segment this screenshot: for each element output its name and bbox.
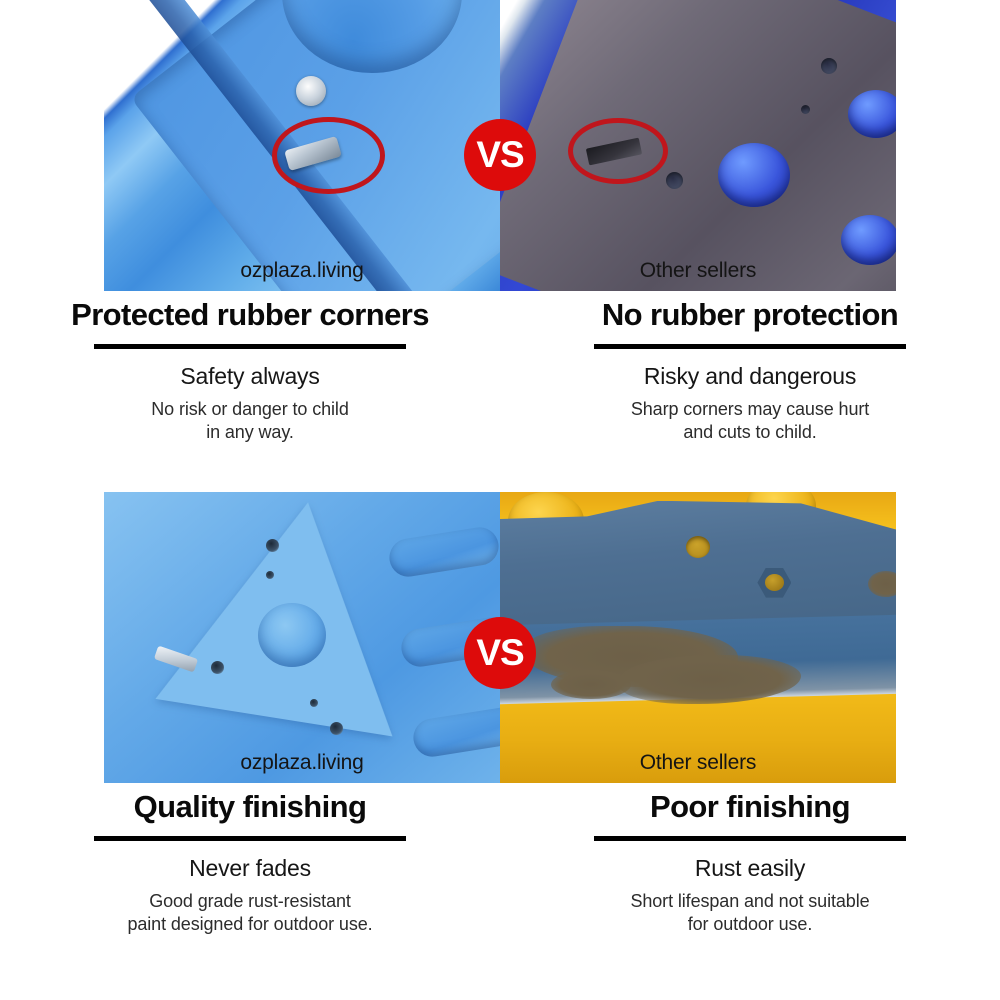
text-col-ours-rubber-corners: Protected rubber corners Safety always N… (0, 299, 500, 444)
photo-caption-ours: ozplaza.living (104, 259, 500, 283)
photo-caption-theirs: Other sellers (500, 751, 896, 775)
body-line-2: paint designed for outdoor use. (0, 913, 500, 936)
plate-hole (686, 536, 710, 558)
brace-bolt-hole (266, 571, 274, 579)
brace-bolt-hole (310, 699, 318, 707)
brace-circular-recess (258, 603, 326, 667)
subhead-ours: Safety always (0, 363, 500, 390)
highlight-ellipse-icon (272, 117, 385, 194)
body-line-2: for outdoor use. (500, 913, 1000, 936)
text-row-top: Protected rubber corners Safety always N… (0, 299, 1000, 444)
divider-rule (94, 344, 406, 349)
bracket-hole (666, 172, 683, 189)
screw-head-icon (296, 76, 326, 106)
vs-badge-top: VS (464, 119, 536, 191)
table-dimple (841, 215, 896, 265)
photo-caption-ours: ozplaza.living (104, 751, 500, 775)
text-col-theirs-finishing: Poor finishing Rust easily Short lifespa… (500, 791, 1000, 936)
subhead-theirs: Rust easily (500, 855, 1000, 882)
photo-theirs-rusted-finish: Other sellers (500, 492, 896, 783)
text-col-ours-finishing: Quality finishing Never fades Good grade… (0, 791, 500, 936)
brace-bolt-hole (330, 722, 343, 735)
subhead-ours: Never fades (0, 855, 500, 882)
brace-bolt-hole (211, 661, 224, 674)
highlight-ellipse-icon (568, 118, 668, 184)
metal-bracket (500, 0, 896, 291)
subhead-theirs: Risky and dangerous (500, 363, 1000, 390)
comparison-section-rubber-corners: ozplaza.living Other sellers VS (0, 0, 1000, 492)
photo-ours-rubber-corner: ozplaza.living (104, 0, 500, 291)
rust-patch (619, 655, 801, 704)
headline-theirs: No rubber protection (500, 299, 1000, 332)
photo-ours-quality-finish: ozplaza.living (104, 492, 500, 783)
steel-plate (500, 501, 896, 632)
headline-theirs: Poor finishing (500, 791, 1000, 824)
vs-badge-bottom: VS (464, 617, 536, 689)
comparison-section-finishing: ozplaza.living Other sellers (0, 492, 1000, 1000)
photo-artwork-blue-table-underside (104, 492, 500, 783)
body-line-2: and cuts to child. (500, 421, 1000, 444)
headline-ours: Quality finishing (0, 791, 500, 824)
photo-caption-theirs: Other sellers (500, 259, 896, 283)
headline-ours: Protected rubber corners (0, 299, 500, 332)
body-line-1: Good grade rust-resistant (0, 890, 500, 913)
divider-rule (594, 344, 906, 349)
table-dimple (848, 90, 896, 138)
bracket-hole (801, 105, 810, 114)
table-cup-recess (282, 0, 462, 73)
bracket-hole (821, 58, 837, 74)
text-row-bottom: Quality finishing Never fades Good grade… (0, 791, 1000, 936)
photo-artwork-dark-blue-table-bracket (500, 0, 896, 291)
text-col-theirs-rubber-corners: No rubber protection Risky and dangerous… (500, 299, 1000, 444)
body-line-1: Short lifespan and not suitable (500, 890, 1000, 913)
body-line-1: No risk or danger to child (0, 398, 500, 421)
rust-patch (868, 571, 896, 597)
body-line-2: in any way. (0, 421, 500, 444)
photo-artwork-yellow-table-rusted-bar (500, 492, 896, 783)
table-dimple (718, 143, 790, 207)
rust-patch (551, 670, 630, 699)
divider-rule (594, 836, 906, 841)
divider-rule (94, 836, 406, 841)
body-line-1: Sharp corners may cause hurt (500, 398, 1000, 421)
photo-theirs-sharp-corner: Other sellers (500, 0, 896, 291)
brace-bolt-hole (266, 539, 279, 552)
product-comparison-infographic: ozplaza.living Other sellers VS (0, 0, 1000, 1000)
